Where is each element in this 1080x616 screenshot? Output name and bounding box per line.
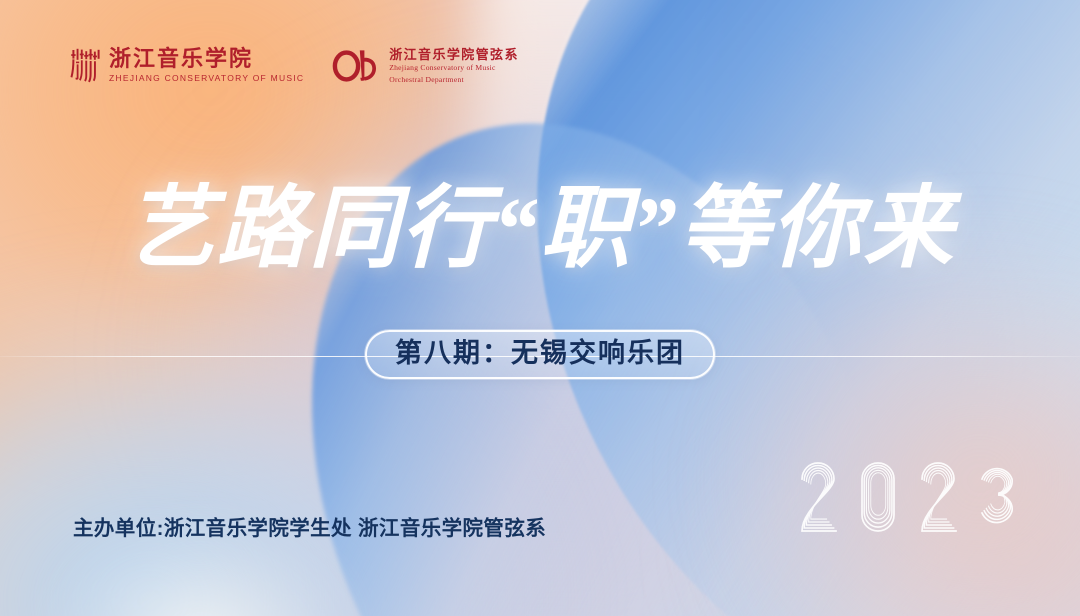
logo-orchestral-department: 浙江音乐学院管弦系 Zhejiang Conservatory of Music… — [332, 48, 519, 84]
logo-orch-cn: 浙江音乐学院管弦系 — [389, 48, 519, 61]
seal-stamp-icon — [70, 47, 100, 85]
logo-zcm-cn: 浙江音乐学院 — [109, 48, 304, 70]
logo-orch-en-line2: Orchestral Department — [389, 75, 519, 84]
poster-canvas: 浙江音乐学院 ZHEJIANG CONSERVATORY OF MUSIC 浙江… — [0, 0, 1080, 616]
logo-bar: 浙江音乐学院 ZHEJIANG CONSERVATORY OF MUSIC 浙江… — [70, 47, 519, 85]
poster-title: 艺路同行“职”等你来 — [0, 183, 1080, 278]
year-mark — [792, 443, 1038, 539]
logo-orch-text: 浙江音乐学院管弦系 Zhejiang Conservatory of Music… — [389, 48, 519, 84]
logo-zcm-text: 浙江音乐学院 ZHEJIANG CONSERVATORY OF MUSIC — [109, 48, 304, 84]
logo-zhejiang-conservatory: 浙江音乐学院 ZHEJIANG CONSERVATORY OF MUSIC — [70, 47, 304, 85]
logo-zcm-en: ZHEJIANG CONSERVATORY OF MUSIC — [109, 73, 304, 84]
year-2023-icon — [792, 443, 1038, 539]
logo-orch-en-line1: Zhejiang Conservatory of Music — [389, 63, 519, 72]
orchestral-ring-monogram-icon — [332, 49, 380, 83]
subtitle-pill: 第八期：无锡交响乐团 — [365, 330, 715, 379]
organizer-line: 主办单位:浙江音乐学院学生处 浙江音乐学院管弦系 — [73, 519, 546, 540]
